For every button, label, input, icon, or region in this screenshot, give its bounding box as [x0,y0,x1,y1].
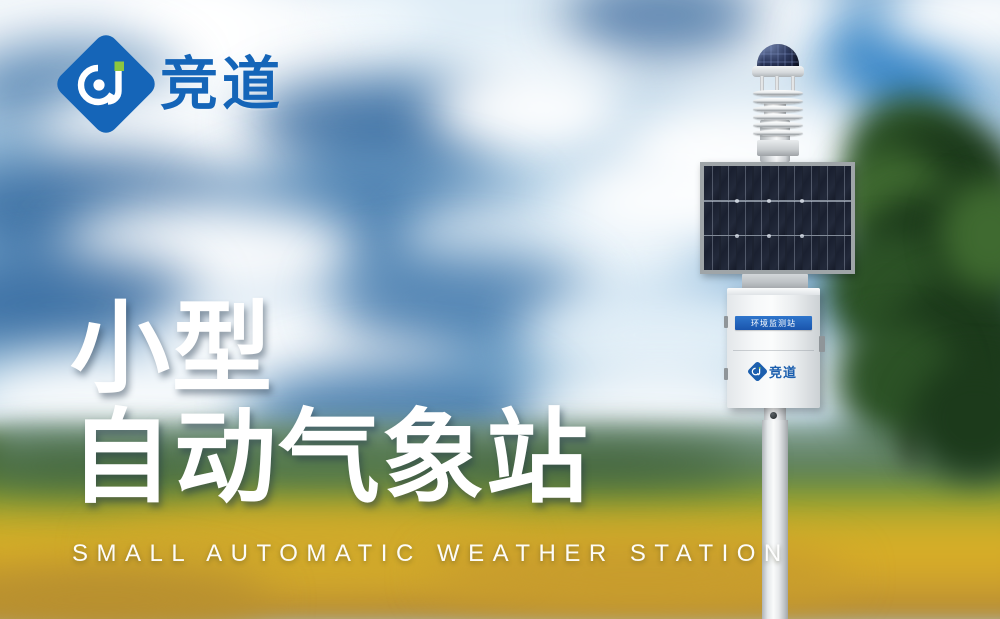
solar-cell [754,201,769,235]
solar-cell [770,236,785,270]
solar-cell [754,166,769,200]
solar-cell [836,201,851,235]
mounting-pole-lower [762,420,788,619]
solar-cell [803,166,818,200]
solar-cell [737,166,752,200]
banner-canvas: 环境监测站 竞道 [0,0,1000,619]
jingdao-diamond-logo-icon [750,364,765,379]
solar-cell [836,236,851,270]
box-screw [770,412,777,419]
brand-logo[interactable]: 竞道 [68,46,284,122]
control-box-seam [733,350,814,351]
control-box-label: 环境监测站 [735,316,812,330]
control-box-brand-text: 竞道 [769,362,797,381]
solar-cell [820,201,835,235]
headline-line-2: 自动气象站 [70,405,590,512]
control-box-lid [727,288,820,295]
control-box-brand: 竞道 [727,362,820,381]
jingdao-diamond-logo-icon [68,46,144,122]
solar-cell [721,201,736,235]
solar-cell [721,236,736,270]
solar-cell [754,236,769,270]
radiation-shield-icon [753,90,803,142]
solar-cell [737,201,752,235]
page-title: 小型 自动气象站 [70,296,590,512]
subtitle: SMALL AUTOMATIC WEATHER STATION [72,540,790,568]
solar-cell [820,236,835,270]
solar-cell [704,236,719,270]
solar-cell [770,166,785,200]
solar-cell [737,236,752,270]
control-box: 环境监测站 竞道 [727,288,820,408]
solar-cell [704,166,719,200]
solar-cell [721,166,736,200]
solar-cell [836,166,851,200]
solar-cell [770,201,785,235]
solar-cell [820,166,835,200]
sensor-base [757,140,799,156]
solar-cell [787,166,802,200]
solar-cell [803,201,818,235]
solar-cell [787,236,802,270]
solar-panel-icon [700,162,855,274]
solar-cell [704,201,719,235]
brand-name: 竞道 [160,55,284,113]
solar-cell [803,236,818,270]
headline-line-1: 小型 [70,296,590,401]
solar-cell [787,201,802,235]
